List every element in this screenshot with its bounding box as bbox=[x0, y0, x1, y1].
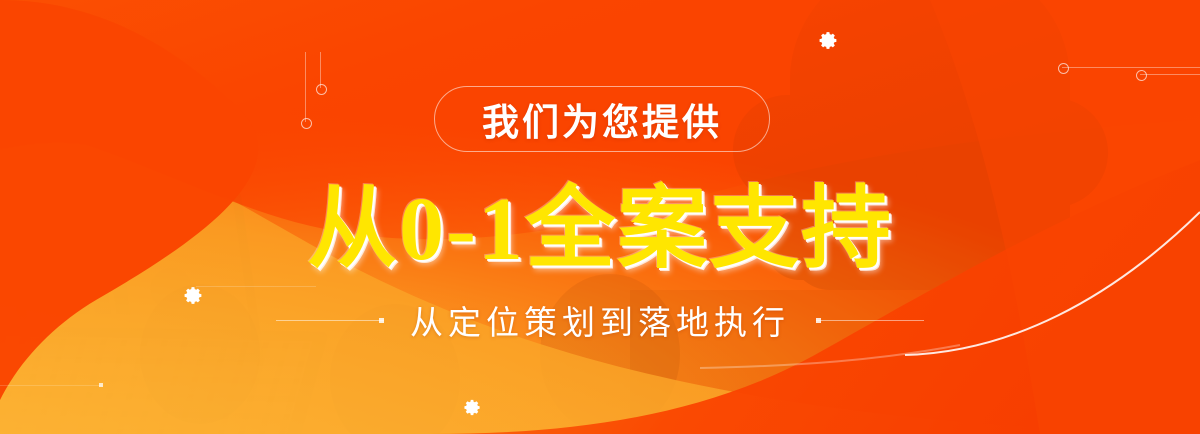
headline: 从0-1全案支持 bbox=[0, 183, 1200, 278]
subtitle-rule-right bbox=[816, 320, 924, 321]
subtitle-rule-left bbox=[276, 320, 384, 321]
subtitle-text: 从定位策划到落地执行 bbox=[410, 296, 790, 344]
subtitle-row: 从定位策划到落地执行 bbox=[0, 296, 1200, 344]
tagline-pill: 我们为您提供 bbox=[434, 86, 770, 152]
subtitle-rule-right-cap bbox=[816, 318, 821, 323]
tagline-text: 我们为您提供 bbox=[482, 92, 722, 146]
subtitle-rule-left-cap bbox=[379, 318, 384, 323]
banner-content: 我们为您提供 从0-1全案支持 从定位策划到落地执行 bbox=[0, 0, 1200, 434]
promo-banner: 我们为您提供 从0-1全案支持 从定位策划到落地执行 bbox=[0, 0, 1200, 434]
